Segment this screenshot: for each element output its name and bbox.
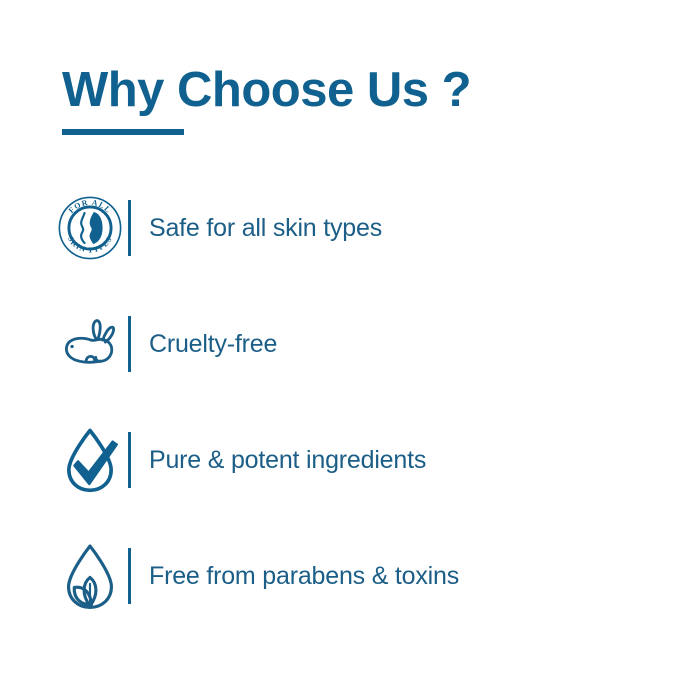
feature-divider <box>128 432 131 488</box>
list-item: Pure & potent ingredients <box>54 414 654 506</box>
feature-list: FOR ALL SKIN TYPES Safe for all skin typ… <box>54 182 654 622</box>
feature-label: Pure & potent ingredients <box>149 446 426 475</box>
heading-block: Why Choose Us ? <box>62 66 622 135</box>
droplet-check-icon <box>54 424 126 496</box>
feature-divider <box>128 548 131 604</box>
feature-divider <box>128 316 131 372</box>
why-choose-us-panel: Why Choose Us ? FOR ALL <box>0 0 700 700</box>
feature-label: Safe for all skin types <box>149 214 382 243</box>
title-underline-rule <box>62 129 184 135</box>
feature-label: Free from parabens & toxins <box>149 562 459 591</box>
page-title: Why Choose Us ? <box>62 66 622 115</box>
svg-text:FOR ALL: FOR ALL <box>67 198 113 215</box>
feature-label: Cruelty-free <box>149 330 277 359</box>
list-item: Free from parabens & toxins <box>54 530 654 622</box>
droplet-leaf-icon <box>54 540 126 612</box>
rabbit-icon <box>54 308 126 380</box>
for-all-skin-types-badge-icon: FOR ALL SKIN TYPES <box>54 192 126 264</box>
feature-divider <box>128 200 131 256</box>
list-item: Cruelty-free <box>54 298 654 390</box>
list-item: FOR ALL SKIN TYPES Safe for all skin typ… <box>54 182 654 274</box>
